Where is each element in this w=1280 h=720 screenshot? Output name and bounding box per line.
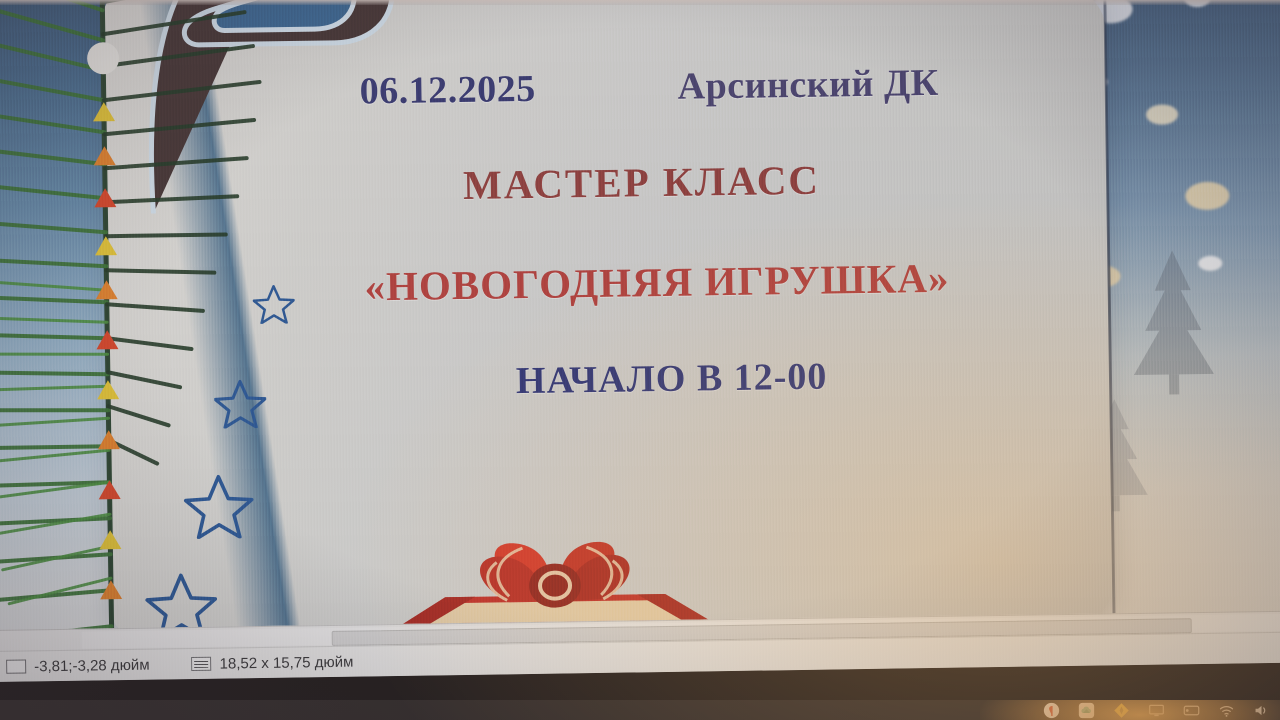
slide-event-title[interactable]: «НОВОГОДНЯЯ ИГРУШКА» (364, 254, 950, 311)
star-outline-icon (145, 571, 218, 630)
wifi-icon[interactable] (1218, 702, 1235, 719)
slide-event-type[interactable]: МАСТЕР КЛАСС (463, 156, 821, 209)
selection-box-icon (6, 659, 26, 673)
taskbar[interactable] (0, 700, 1280, 720)
shield-update-icon[interactable] (1113, 702, 1130, 719)
volume-icon[interactable] (1253, 702, 1270, 719)
status-position-value: -3,81;-3,28 дюйм (34, 656, 150, 675)
status-size-value: 18,52 x 15,75 дюйм (219, 653, 353, 672)
slide-date[interactable]: 06.12.2025 (359, 67, 536, 114)
monitor-icon[interactable] (1148, 702, 1165, 719)
keyboard-layout-icon[interactable] (1183, 702, 1200, 719)
slide-start-time[interactable]: НАЧАЛО В 12-00 (516, 355, 828, 404)
star-outline-icon (183, 472, 254, 539)
star-outline-icon (214, 378, 267, 429)
object-size-icon (191, 657, 211, 671)
status-size[interactable]: 18,52 x 15,75 дюйм (191, 653, 353, 672)
slide-venue[interactable]: Арсинский ДК (677, 61, 939, 109)
slide-canvas[interactable]: 06.12.2025 Арсинский ДК МАСТЕР КЛАСС «НО… (0, 0, 1280, 630)
star-outline-icon (253, 283, 296, 324)
taskbar-light-glare (980, 700, 1280, 720)
monitor-screen: 06.12.2025 Арсинский ДК МАСТЕР КЛАСС «НО… (0, 0, 1280, 682)
gift-box-icon (374, 519, 736, 630)
monitor-photo: 06.12.2025 Арсинский ДК МАСТЕР КЛАСС «НО… (0, 0, 1280, 720)
cloud-drive-icon[interactable] (1078, 702, 1095, 719)
yandex-browser-icon[interactable] (1043, 702, 1060, 719)
status-position[interactable]: -3,81;-3,28 дюйм (6, 656, 150, 675)
